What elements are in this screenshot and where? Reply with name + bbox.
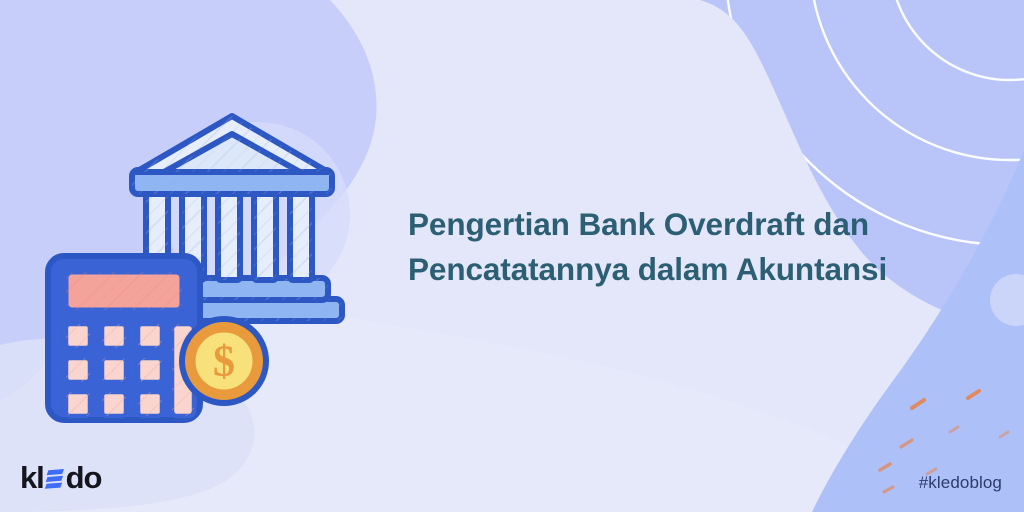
illustration-bank-calculator-coin: $ — [36, 110, 366, 430]
banner-canvas: $ Pengertian Bank Overdraft dan Pencatat… — [0, 0, 1024, 512]
coin-dollar-sign: $ — [213, 337, 235, 386]
bank-pediment — [136, 116, 328, 172]
calculator-display — [66, 272, 182, 310]
logo-e-mark-icon — [45, 468, 65, 490]
logo-text-left: kl — [20, 462, 44, 493]
logo-text-right: do — [66, 462, 102, 493]
dollar-coin-icon: $ — [182, 319, 266, 403]
title-line-1: Pengertian Bank Overdraft dan — [408, 202, 953, 247]
title-line-2: Pencatatannya dalam Akuntansi — [408, 247, 953, 292]
calculator-icon — [48, 256, 200, 420]
page-title: Pengertian Bank Overdraft dan Pencatatan… — [408, 202, 953, 291]
calculator-keypad-texture — [66, 324, 162, 416]
hashtag-label: #kledoblog — [919, 473, 1002, 493]
kledo-logo[interactable]: kl do — [20, 460, 101, 494]
